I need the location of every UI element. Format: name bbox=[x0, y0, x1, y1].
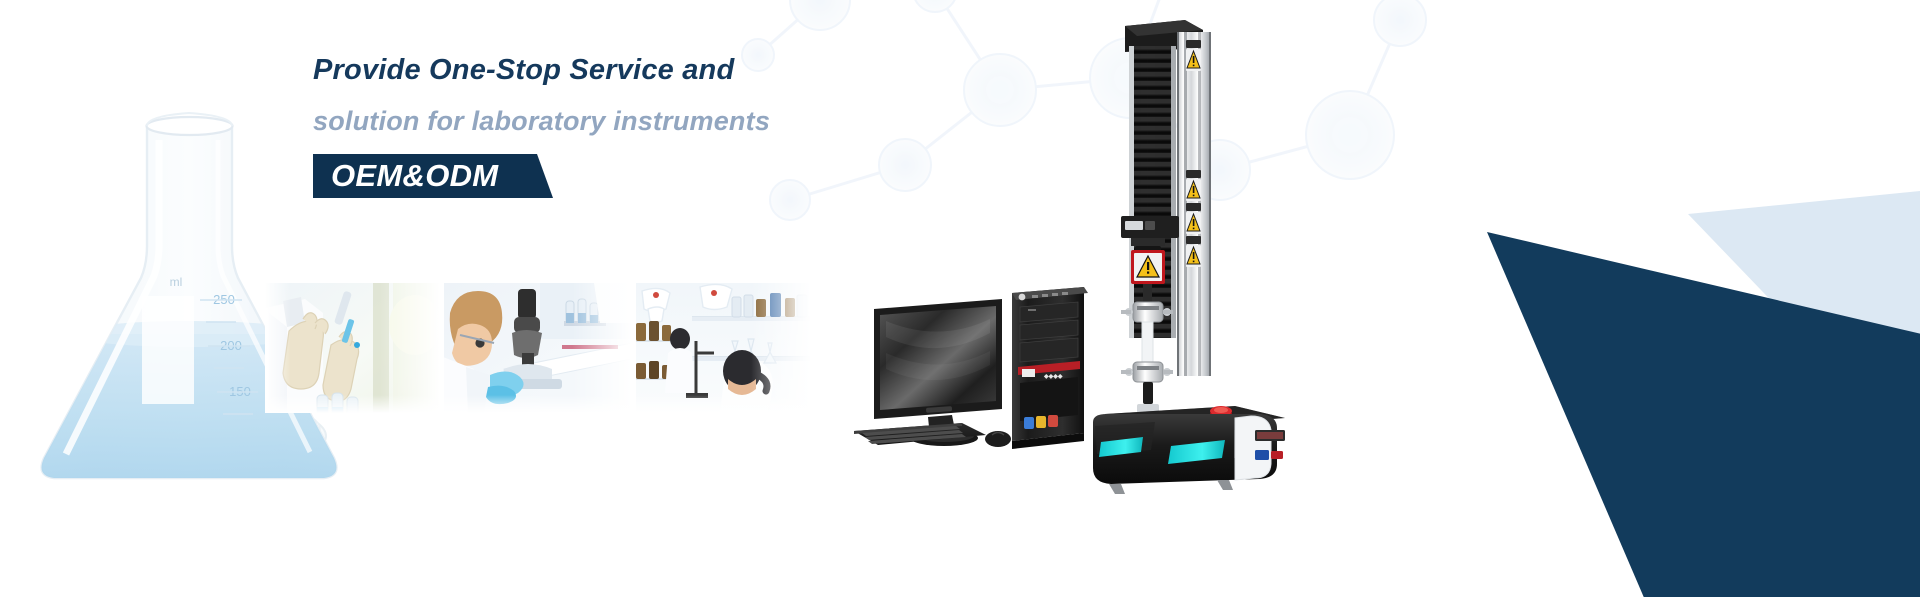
machine-bellows bbox=[1129, 46, 1176, 338]
panel-fade-left bbox=[265, 283, 291, 413]
machine-specimen bbox=[1142, 322, 1153, 362]
panel-fade-right bbox=[572, 283, 632, 413]
lab-pipetting-photo bbox=[265, 283, 440, 413]
computer-monitor bbox=[874, 299, 1002, 446]
banner-subline: solution for laboratory instruments bbox=[313, 108, 953, 135]
oem-odm-badge[interactable]: OEM&ODM bbox=[313, 154, 553, 198]
panel-fade-bottom bbox=[444, 395, 632, 413]
banner-headline: Provide One-Stop Service and bbox=[313, 56, 953, 85]
badge-label: OEM&ODM bbox=[331, 158, 498, 194]
panel-fade-right bbox=[380, 283, 440, 413]
triangle-dark bbox=[1487, 232, 1920, 597]
panel-fade-bottom bbox=[636, 395, 811, 413]
lab-microscope-photo bbox=[444, 283, 632, 413]
panel-fade-bottom bbox=[265, 395, 440, 413]
machine-load-cell bbox=[1131, 246, 1165, 284]
universal-tensile-testing-machine bbox=[1085, 18, 1305, 488]
headline-block: Provide One-Stop Service and solution fo… bbox=[313, 56, 953, 198]
lab-bench-photo bbox=[636, 283, 811, 413]
desktop-computer: ◆◆◆◆ bbox=[852, 283, 1102, 453]
computer-mouse bbox=[985, 431, 1011, 447]
triangle-light bbox=[1688, 190, 1920, 466]
flask-unit-label: ml bbox=[170, 275, 183, 289]
machine-body bbox=[1093, 414, 1285, 494]
panel-fade-right bbox=[751, 283, 811, 413]
computer-tower: ◆◆◆◆ bbox=[1012, 287, 1088, 449]
promo-banner: 250 200 150 ml Provide One-Stop Service … bbox=[0, 0, 1920, 597]
machine-lower-grip bbox=[1121, 362, 1173, 414]
